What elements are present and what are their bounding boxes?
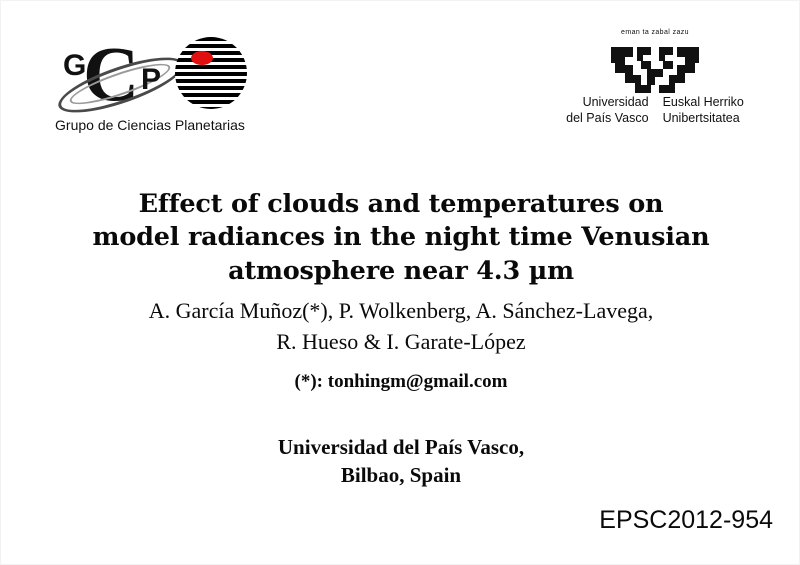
slide-canvas: G C P Grupo de Ciencias Planetarias eman…: [0, 0, 800, 565]
ehu-emblem-icon: [607, 41, 703, 93]
planet-red-spot-icon: [191, 51, 213, 65]
ehu-name-basque: Euskal Herriko Unibertsitatea: [663, 95, 744, 126]
abstract-code: EPSC2012-954: [599, 506, 773, 535]
author-line-2: R. Hueso & I. Garate-López: [71, 326, 731, 357]
affiliation-line-2: Bilbao, Spain: [71, 462, 731, 490]
ehu-name-spanish: Universidad del País Vasco: [566, 95, 648, 126]
ehu-name-spanish-line1: Universidad: [566, 95, 648, 111]
ehu-name-basque-line1: Euskal Herriko: [663, 95, 744, 111]
affiliation-line-1: Universidad del País Vasco,: [71, 434, 731, 462]
gcp-letter-p-text: P: [141, 65, 161, 95]
title-line-2: model radiances in the night time Venusi…: [61, 221, 741, 254]
gcp-logo-caption: Grupo de Ciencias Planetarias: [49, 117, 251, 133]
upv-ehu-logo: eman ta zabal zazu Universidad del País …: [549, 29, 761, 134]
ehu-name-block: Universidad del País Vasco Euskal Herrik…: [549, 95, 761, 126]
ehu-motto-text: eman ta zabal zazu: [549, 29, 761, 36]
gcp-logo: G C P Grupo de Ciencias Planetarias: [49, 33, 251, 141]
title-line-1: Effect of clouds and temperatures on: [61, 188, 741, 221]
gcp-logo-mark: G C P: [49, 33, 251, 115]
striped-planet-icon: [175, 37, 247, 109]
presentation-title: Effect of clouds and temperatures on mod…: [61, 188, 741, 288]
ehu-name-spanish-line2: del País Vasco: [566, 111, 648, 127]
author-list: A. García Muñoz(*), P. Wolkenberg, A. Sá…: [71, 295, 731, 357]
contact-email[interactable]: (*): tonhingm@gmail.com: [71, 371, 731, 393]
affiliation-block: Universidad del País Vasco, Bilbao, Spai…: [71, 434, 731, 489]
author-line-1: A. García Muñoz(*), P. Wolkenberg, A. Sá…: [71, 295, 731, 326]
ehu-name-basque-line2: Unibertsitatea: [663, 111, 744, 127]
title-line-3: atmosphere near 4.3 µm: [61, 255, 741, 288]
